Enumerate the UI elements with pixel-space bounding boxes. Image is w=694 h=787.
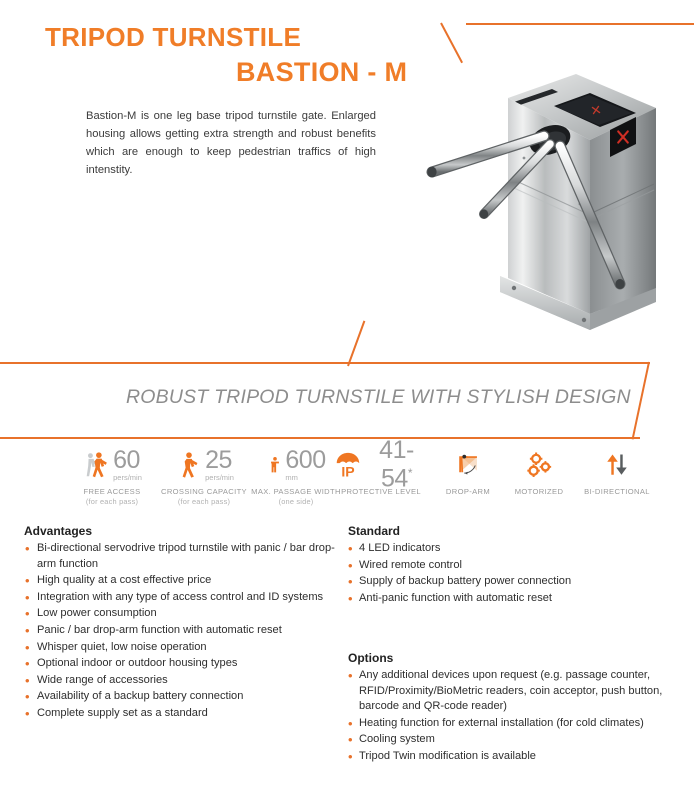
spec-unit: pers/min — [205, 473, 234, 482]
options-list: Any additional devices upon request (e.g… — [348, 668, 688, 765]
advantages-column: Advantages Bi-directional servodrive tri… — [24, 524, 344, 723]
spec-label: FREE ACCESS — [62, 487, 162, 496]
list-item: Any additional devices upon request (e.g… — [348, 668, 688, 715]
list-item: High quality at a cost effective price — [24, 573, 344, 589]
list-item: Heating function for external installati… — [348, 716, 688, 732]
spec-passage-width: 600 mm MAX. PASSAGE WIDTH (one side) — [250, 448, 342, 506]
standard-list: 4 LED indicators Wired remote control Su… — [348, 541, 686, 606]
options-heading: Options — [348, 651, 688, 665]
spec-sublabel: (one side) — [250, 497, 342, 506]
spec-value: 41-54* — [364, 439, 429, 490]
product-title-model: BASTION - M — [236, 57, 407, 88]
list-item: Optional indoor or outdoor housing types — [24, 656, 344, 672]
spec-label: CROSSING CAPACITY — [152, 487, 256, 496]
standard-column: Standard 4 LED indicators Wired remote c… — [348, 524, 686, 607]
standard-heading: Standard — [348, 524, 686, 538]
spec-crossing-capacity: 25 pers/min CROSSING CAPACITY (for each … — [152, 448, 256, 506]
spec-sublabel: (for each pass) — [152, 497, 256, 506]
spec-label: PROTECTIVE LEVEL — [333, 487, 429, 496]
free-access-icon — [82, 450, 112, 480]
spec-label: MOTORIZED — [500, 487, 578, 496]
list-item: Whisper quiet, low noise operation — [24, 640, 344, 656]
drop-arm-icon — [455, 452, 482, 479]
svg-text:IP: IP — [341, 463, 354, 479]
spec-value: 600 — [285, 449, 325, 472]
list-item: Panic / bar drop-arm function with autom… — [24, 623, 344, 639]
spec-sublabel: (for each pass) — [62, 497, 162, 506]
list-item: Wired remote control — [348, 558, 686, 574]
datasheet-page: TRIPOD TURNSTILE BASTION - M Bastion-M i… — [0, 0, 694, 787]
crossing-capacity-icon — [174, 450, 204, 480]
bastion-m-tripod-turnstile-photo — [404, 62, 692, 364]
spec-motorized: MOTORIZED — [500, 448, 578, 496]
accent-line-middle-diagonal — [347, 321, 365, 367]
spec-value: 25 — [205, 449, 232, 472]
spec-free-access: 60 pers/min FREE ACCESS (for each pass) — [62, 448, 162, 506]
passage-width-icon — [266, 450, 284, 480]
list-item: Tripod Twin modification is available — [348, 749, 688, 765]
spec-protective-level: IP 41-54* PROTECTIVE LEVEL — [333, 448, 429, 496]
list-item: Availability of a backup battery connect… — [24, 689, 344, 705]
advantages-heading: Advantages — [24, 524, 344, 538]
bi-directional-arrows-icon — [604, 452, 630, 478]
accent-line-top-horizontal — [466, 23, 694, 25]
intro-description: Bastion-M is one leg base tripod turnsti… — [86, 107, 376, 179]
motorized-gears-icon — [526, 452, 553, 479]
spec-label: DROP-ARM — [430, 487, 506, 496]
advantages-list: Bi-directional servodrive tripod turnsti… — [24, 541, 344, 722]
ip-umbrella-icon: IP — [333, 450, 363, 480]
list-item: Complete supply set as a standard — [24, 706, 344, 722]
accent-line-top-diagonal — [440, 23, 463, 64]
spec-label: MAX. PASSAGE WIDTH — [250, 487, 342, 496]
tagline-text: ROBUST TRIPOD TURNSTILE WITH STYLISH DES… — [126, 386, 631, 409]
spec-value: 60 — [113, 449, 140, 472]
list-item: Supply of backup battery power connectio… — [348, 574, 686, 590]
list-item: 4 LED indicators — [348, 541, 686, 557]
options-column: Options Any additional devices upon requ… — [348, 651, 688, 766]
list-item: Wide range of accessories — [24, 673, 344, 689]
list-item: Integration with any type of access cont… — [24, 590, 344, 606]
list-item: Low power consumption — [24, 606, 344, 622]
spec-unit: mm — [285, 473, 298, 482]
spec-label: BI-DIRECTIONAL — [572, 487, 662, 496]
list-item: Anti-panic function with automatic reset — [348, 591, 686, 607]
accent-line-band-diagonal — [632, 362, 650, 440]
list-item: Bi-directional servodrive tripod turnsti… — [24, 541, 344, 572]
spec-icon-strip: 60 pers/min FREE ACCESS (for each pass) … — [0, 448, 694, 510]
spec-unit: pers/min — [113, 473, 142, 482]
accent-line-band-bottom — [0, 437, 640, 439]
spec-bi-directional: BI-DIRECTIONAL — [572, 448, 662, 496]
spec-drop-arm: DROP-ARM — [430, 448, 506, 496]
list-item: Cooling system — [348, 732, 688, 748]
product-title-primary: TRIPOD TURNSTILE — [45, 22, 301, 53]
